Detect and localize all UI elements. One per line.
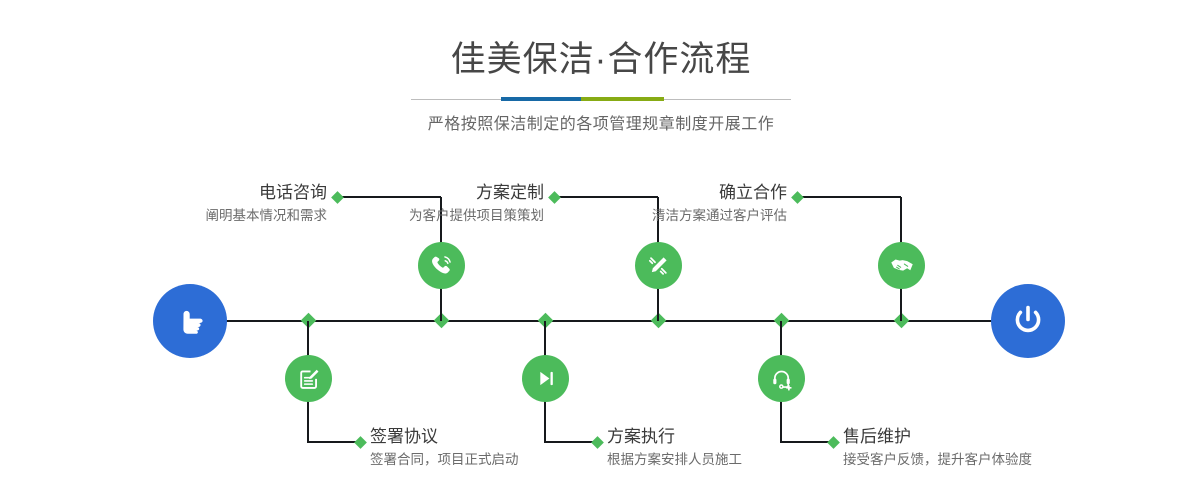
step-icon-1[interactable] [418, 242, 465, 289]
step-icon-3[interactable] [635, 242, 682, 289]
document-edit-icon [296, 366, 322, 392]
step-icon-5[interactable] [878, 242, 925, 289]
customer-service-icon [769, 366, 795, 392]
step-title-3: 方案定制 [260, 181, 544, 205]
connector-horizontal-6 [781, 441, 833, 443]
timeline-start-node[interactable] [153, 284, 227, 358]
step-desc-6: 接受客户反馈，提升客户体验度 [843, 449, 1163, 471]
step-icon-2[interactable] [285, 355, 332, 402]
step-title-6: 售后维护 [843, 425, 1163, 449]
step-desc-3: 为客户提供项目策策划 [260, 205, 544, 227]
connector-horizontal-2 [308, 441, 360, 443]
step-label-3: 方案定制 为客户提供项目策策划 [260, 181, 544, 227]
pointing-hand-icon [170, 301, 210, 341]
step-desc-5: 清洁方案通过客户评估 [503, 205, 787, 227]
timeline-end-node[interactable] [991, 284, 1065, 358]
step-icon-4[interactable] [522, 355, 569, 402]
flow-diagram-page: 佳美保洁·合作流程 严格按照保洁制定的各项管理规章制度开展工作 [0, 0, 1202, 502]
pencil-design-icon [645, 252, 672, 279]
handshake-icon [888, 252, 916, 280]
power-icon [1007, 300, 1049, 342]
play-execute-icon [533, 366, 558, 391]
step-label-6: 售后维护 接受客户反馈，提升客户体验度 [843, 425, 1163, 471]
process-timeline: 电话咨询 阐明基本情况和需求 签署协议 签署合同， [0, 0, 1202, 502]
connector-horizontal-5 [797, 196, 901, 198]
label-marker-2 [354, 436, 367, 449]
step-icon-6[interactable] [758, 355, 805, 402]
label-marker-5 [791, 191, 804, 204]
connector-horizontal-4 [545, 441, 597, 443]
step-title-5: 确立合作 [503, 181, 787, 205]
step-label-5: 确立合作 清洁方案通过客户评估 [503, 181, 787, 227]
phone-call-icon [428, 252, 455, 279]
